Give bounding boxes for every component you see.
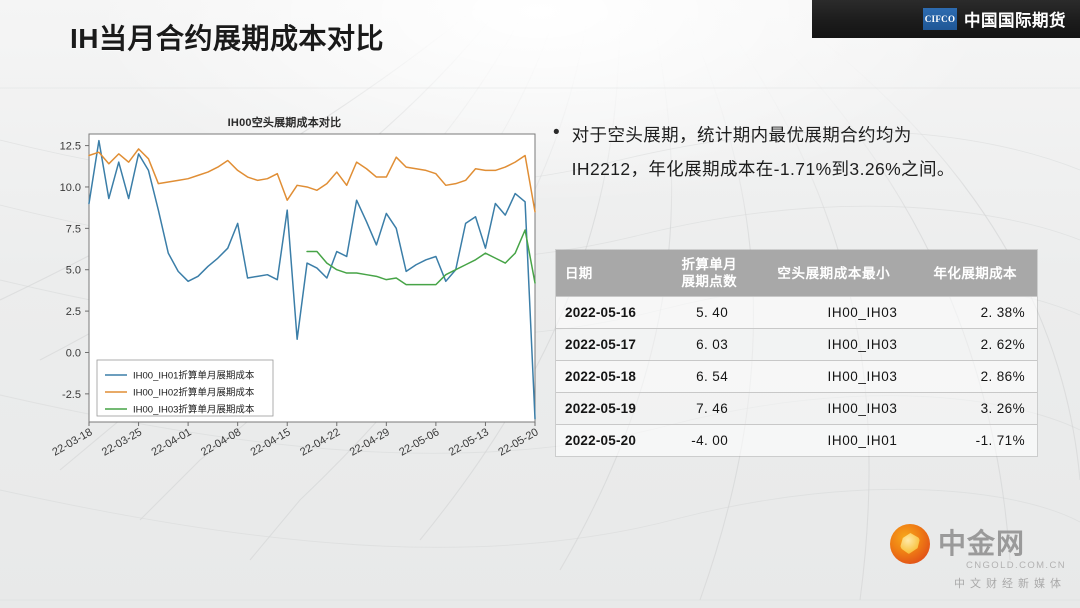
cell-date: 2022-05-18	[556, 361, 664, 393]
page-title: IH当月合约展期成本对比	[70, 17, 384, 57]
legend-label: IH00_IH03折算单月展期成本	[133, 404, 255, 416]
col-header-date: 日期	[556, 250, 664, 297]
cell-min-cost: IH00_IH03	[754, 297, 913, 329]
cell-min-cost: IH00_IH03	[754, 393, 913, 425]
x-tick-label: 22-04-01	[149, 426, 193, 458]
cell-annual-cost: 2. 62%	[913, 329, 1037, 361]
table-row: 2022-05-197. 46IH00_IH033. 26%	[556, 393, 1037, 425]
x-tick-label: 22-05-06	[397, 426, 441, 458]
cell-date: 2022-05-20	[556, 425, 664, 457]
summary-bullet: • 对于空头展期，统计期内最优展期合约均为 IH2212，年化展期成本在-1.7…	[553, 118, 1053, 186]
y-tick-label: 10.0	[60, 182, 81, 194]
cell-points: 7. 46	[664, 393, 754, 425]
watermark-tagline: 中文财经新媒体	[890, 575, 1068, 591]
table-header-row: 日期 折算单月 展期点数 空头展期成本最小 年化展期成本	[556, 250, 1037, 297]
table-body: 2022-05-165. 40IH00_IH032. 38%2022-05-17…	[556, 297, 1037, 457]
rollover-cost-table: 日期 折算单月 展期点数 空头展期成本最小 年化展期成本 2022-05-165…	[556, 250, 1037, 456]
y-tick-label: 12.5	[60, 141, 81, 153]
legend-label: IH00_IH02折算单月展期成本	[133, 387, 255, 399]
chart-plot-area: -2.50.02.55.07.510.012.522-03-1822-03-25…	[27, 112, 542, 487]
table-row: 2022-05-186. 54IH00_IH032. 86%	[556, 361, 1037, 393]
x-tick-label: 22-04-29	[348, 426, 392, 458]
y-tick-label: 5.0	[66, 265, 81, 277]
bullet-line-2: IH2212，年化展期成本在-1.71%到3.26%之间。	[572, 152, 955, 186]
cell-min-cost: IH00_IH03	[754, 361, 913, 393]
table-header: 日期 折算单月 展期点数 空头展期成本最小 年化展期成本	[556, 250, 1037, 297]
cifco-logo-mark: CIFCO	[923, 8, 957, 30]
cell-annual-cost: 2. 38%	[913, 297, 1037, 329]
cell-annual-cost: 3. 26%	[913, 393, 1037, 425]
col-header-annual-cost: 年化展期成本	[913, 250, 1037, 297]
cell-date: 2022-05-17	[556, 329, 664, 361]
cell-min-cost: IH00_IH03	[754, 329, 913, 361]
cell-points: 6. 03	[664, 329, 754, 361]
cell-min-cost: IH00_IH01	[754, 425, 913, 457]
col-header-points: 折算单月 展期点数	[664, 250, 754, 297]
y-tick-label: 2.5	[66, 306, 81, 318]
brand-logo-bar: CIFCO 中国国际期货	[812, 0, 1080, 38]
table-row: 2022-05-20-4. 00IH00_IH01-1. 71%	[556, 425, 1037, 457]
cell-date: 2022-05-19	[556, 393, 664, 425]
cell-date: 2022-05-16	[556, 297, 664, 329]
y-tick-label: 0.0	[66, 347, 81, 359]
brand-name-label: 中国国际期货	[964, 7, 1066, 31]
x-tick-label: 22-03-25	[100, 426, 144, 458]
x-tick-label: 22-04-22	[298, 426, 342, 458]
x-tick-label: 22-05-13	[447, 426, 491, 458]
slide-canvas: CIFCO 中国国际期货 IH当月合约展期成本对比 IH00空头展期成本对比 -…	[0, 0, 1080, 608]
x-tick-label: 22-05-20	[496, 426, 540, 458]
cell-annual-cost: 2. 86%	[913, 361, 1037, 393]
rollover-cost-chart: IH00空头展期成本对比 -2.50.02.55.07.510.012.522-…	[27, 112, 542, 487]
y-tick-label: 7.5	[66, 223, 81, 235]
chart-legend: IH00_IH01折算单月展期成本IH00_IH02折算单月展期成本IH00_I…	[97, 360, 273, 416]
cngold-watermark: 中金网 CNGOLD.COM.CN 中文财经新媒体	[890, 524, 1068, 600]
col-header-min-cost: 空头展期成本最小	[754, 250, 913, 297]
cell-points: 6. 54	[664, 361, 754, 393]
bullet-line-1: 对于空头展期，统计期内最优展期合约均为	[572, 118, 955, 152]
col-header-points-line1: 折算单月	[673, 256, 745, 273]
table-row: 2022-05-176. 03IH00_IH032. 62%	[556, 329, 1037, 361]
cell-annual-cost: -1. 71%	[913, 425, 1037, 457]
cell-points: -4. 00	[664, 425, 754, 457]
cell-points: 5. 40	[664, 297, 754, 329]
y-tick-label: -2.5	[62, 389, 81, 401]
bullet-dot-icon: •	[553, 118, 560, 148]
cngold-logo-icon	[890, 524, 930, 564]
x-tick-label: 22-03-18	[50, 426, 94, 458]
x-tick-label: 22-04-15	[249, 426, 293, 458]
x-tick-label: 22-04-08	[199, 426, 243, 458]
watermark-name: 中金网	[938, 529, 1025, 559]
table-row: 2022-05-165. 40IH00_IH032. 38%	[556, 297, 1037, 329]
col-header-points-line2: 展期点数	[673, 273, 745, 290]
legend-label: IH00_IH01折算单月展期成本	[133, 370, 255, 382]
